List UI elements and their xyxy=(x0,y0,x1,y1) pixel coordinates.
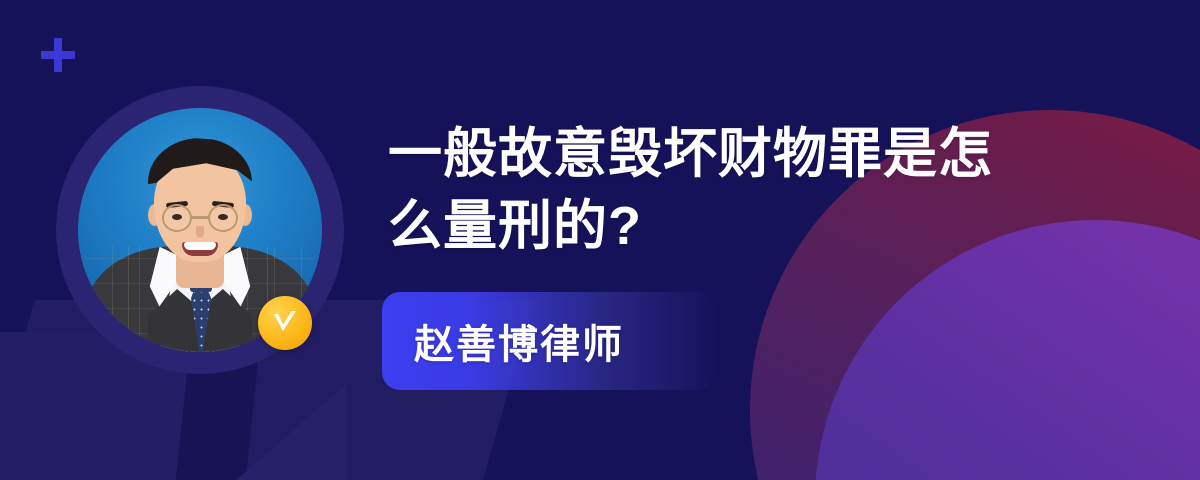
portrait-nose xyxy=(196,226,204,238)
lawyer-name-label: 赵善博律师 xyxy=(414,312,624,370)
plus-icon xyxy=(41,38,75,72)
page-title-line-1: 一般故意毁坏财物罪是怎 xyxy=(388,124,993,184)
verified-v-badge xyxy=(258,296,312,350)
lawyer-name-badge[interactable]: 赵善博律师 xyxy=(382,292,714,390)
portrait-teeth xyxy=(184,242,216,250)
headline-block: 一般故意毁坏财物罪是怎 么量刑的? xyxy=(388,118,1148,262)
page-title-line-2: 么量刑的? xyxy=(388,196,642,256)
lawyer-qa-banner: 一般故意毁坏财物罪是怎 么量刑的? 赵善博律师 xyxy=(0,0,1200,480)
portrait-glasses-right xyxy=(208,204,238,232)
page-title: 一般故意毁坏财物罪是怎 么量刑的? xyxy=(388,118,1148,262)
portrait-glasses-bridge xyxy=(192,216,208,219)
plus-icon-vertical-bar xyxy=(54,38,62,72)
portrait-glasses-left xyxy=(162,204,192,232)
